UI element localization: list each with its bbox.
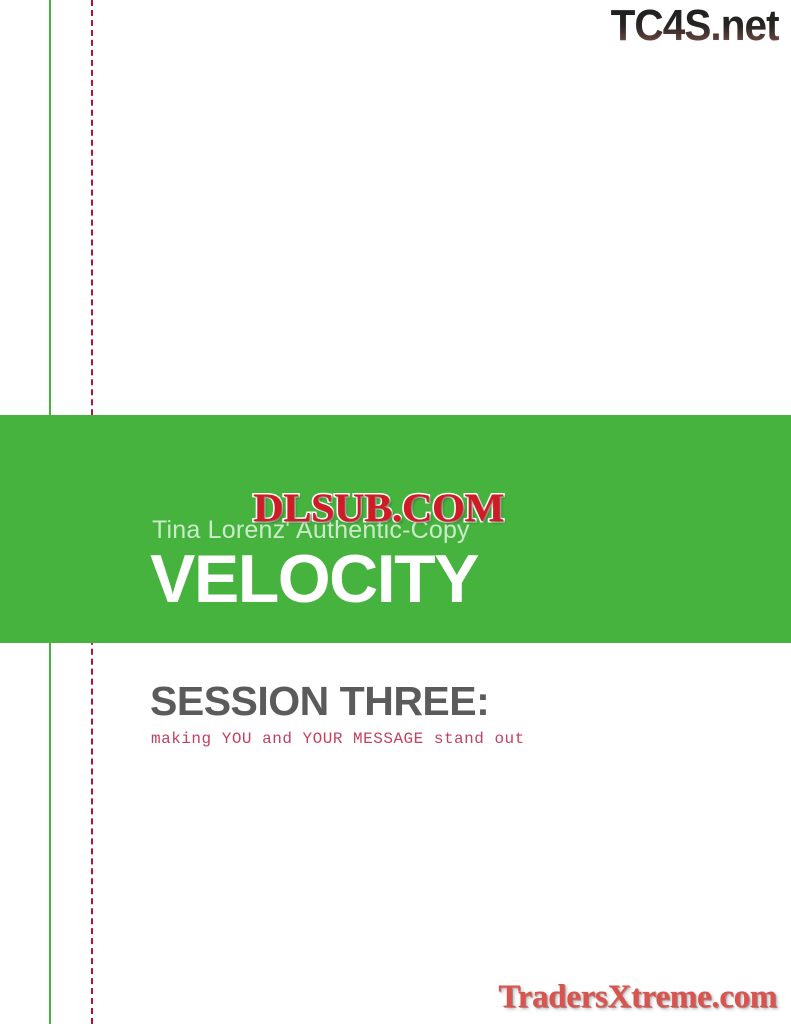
section-tagline: making YOU and YOUR MESSAGE stand out [151,730,525,748]
brand-logo: TC4S.net [611,4,779,48]
footer-watermark: TradersXtreme.com [498,981,777,1014]
banner-title: VELOCITY [150,545,478,613]
section-heading: SESSION THREE: [150,681,489,722]
overlay-watermark: DLSUB.COM [253,488,504,528]
document-page: TC4S.net Tina Lorenz' Authentic-Copy VEL… [0,0,791,1024]
